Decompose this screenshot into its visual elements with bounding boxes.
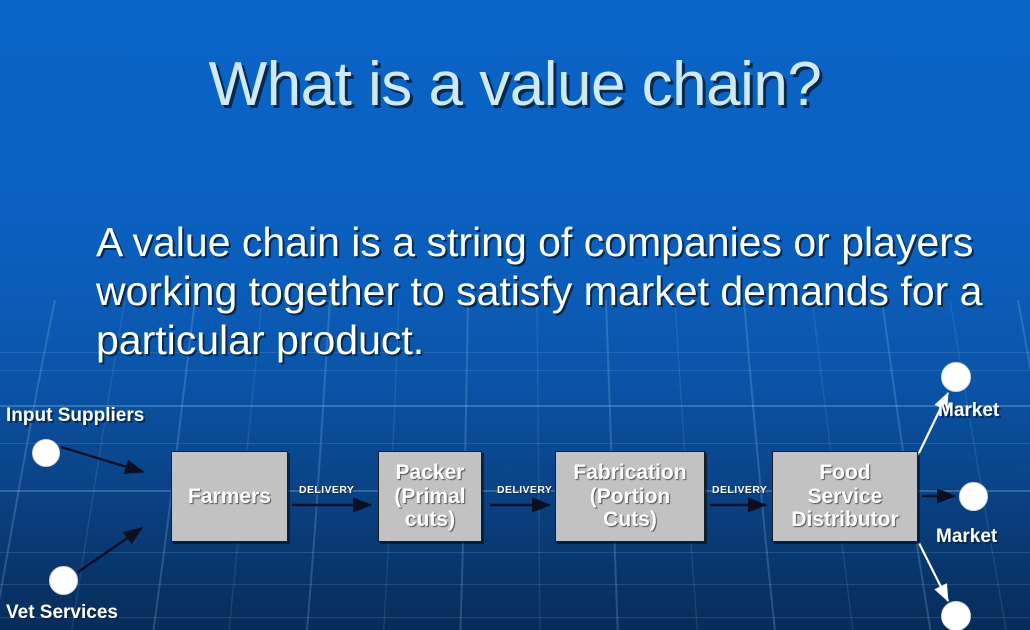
process-box-line: Service bbox=[808, 485, 883, 508]
arrow-distributor-to-market-bottom bbox=[919, 543, 948, 601]
node-label-input-suppliers: Input Suppliers bbox=[6, 405, 144, 427]
process-box-fabrication[interactable]: Fabrication (Portion Cuts) bbox=[555, 451, 705, 542]
process-box-label: Food Service Distributor bbox=[791, 461, 898, 532]
process-box-packer[interactable]: Packer (Primal cuts) bbox=[378, 451, 482, 542]
flow-label-delivery-2: DELIVERY bbox=[497, 484, 552, 496]
process-box-label: Packer (Primal cuts) bbox=[394, 461, 465, 532]
node-dot-market-top[interactable] bbox=[941, 362, 971, 392]
node-dot-market-middle[interactable] bbox=[959, 482, 988, 511]
process-box-label: Farmers bbox=[188, 485, 271, 509]
node-label-market-middle: Market bbox=[936, 526, 997, 548]
arrow-vet-services-to-farmers bbox=[78, 528, 142, 572]
flow-label-delivery-1: DELIVERY bbox=[299, 484, 354, 496]
process-box-line: Distributor bbox=[791, 508, 898, 531]
process-box-line: Cuts) bbox=[603, 508, 657, 531]
process-box-label: Fabrication (Portion Cuts) bbox=[573, 461, 686, 532]
process-box-line: (Portion bbox=[590, 485, 670, 508]
node-label-vet-services: Vet Services bbox=[6, 602, 118, 624]
arrow-input-suppliers-to-farmers bbox=[61, 447, 143, 472]
node-dot-input-suppliers[interactable] bbox=[32, 439, 60, 467]
value-chain-diagram: Farmers Packer (Primal cuts) Fabrication… bbox=[0, 0, 1030, 630]
node-label-market-top: Market bbox=[938, 400, 999, 422]
flow-label-delivery-3: DELIVERY bbox=[712, 484, 767, 496]
node-dot-vet-services[interactable] bbox=[49, 566, 78, 595]
node-dot-market-bottom[interactable] bbox=[941, 601, 971, 630]
process-box-line: Fabrication bbox=[573, 461, 686, 484]
process-box-farmers[interactable]: Farmers bbox=[171, 451, 288, 542]
process-box-line: Packer bbox=[396, 461, 465, 484]
process-box-line: Food bbox=[819, 461, 870, 484]
process-box-food-service-distributor[interactable]: Food Service Distributor bbox=[772, 451, 918, 542]
process-box-line: cuts) bbox=[405, 508, 455, 531]
slide: What is a value chain? A value chain is … bbox=[0, 0, 1030, 630]
process-box-line: (Primal bbox=[394, 485, 465, 508]
